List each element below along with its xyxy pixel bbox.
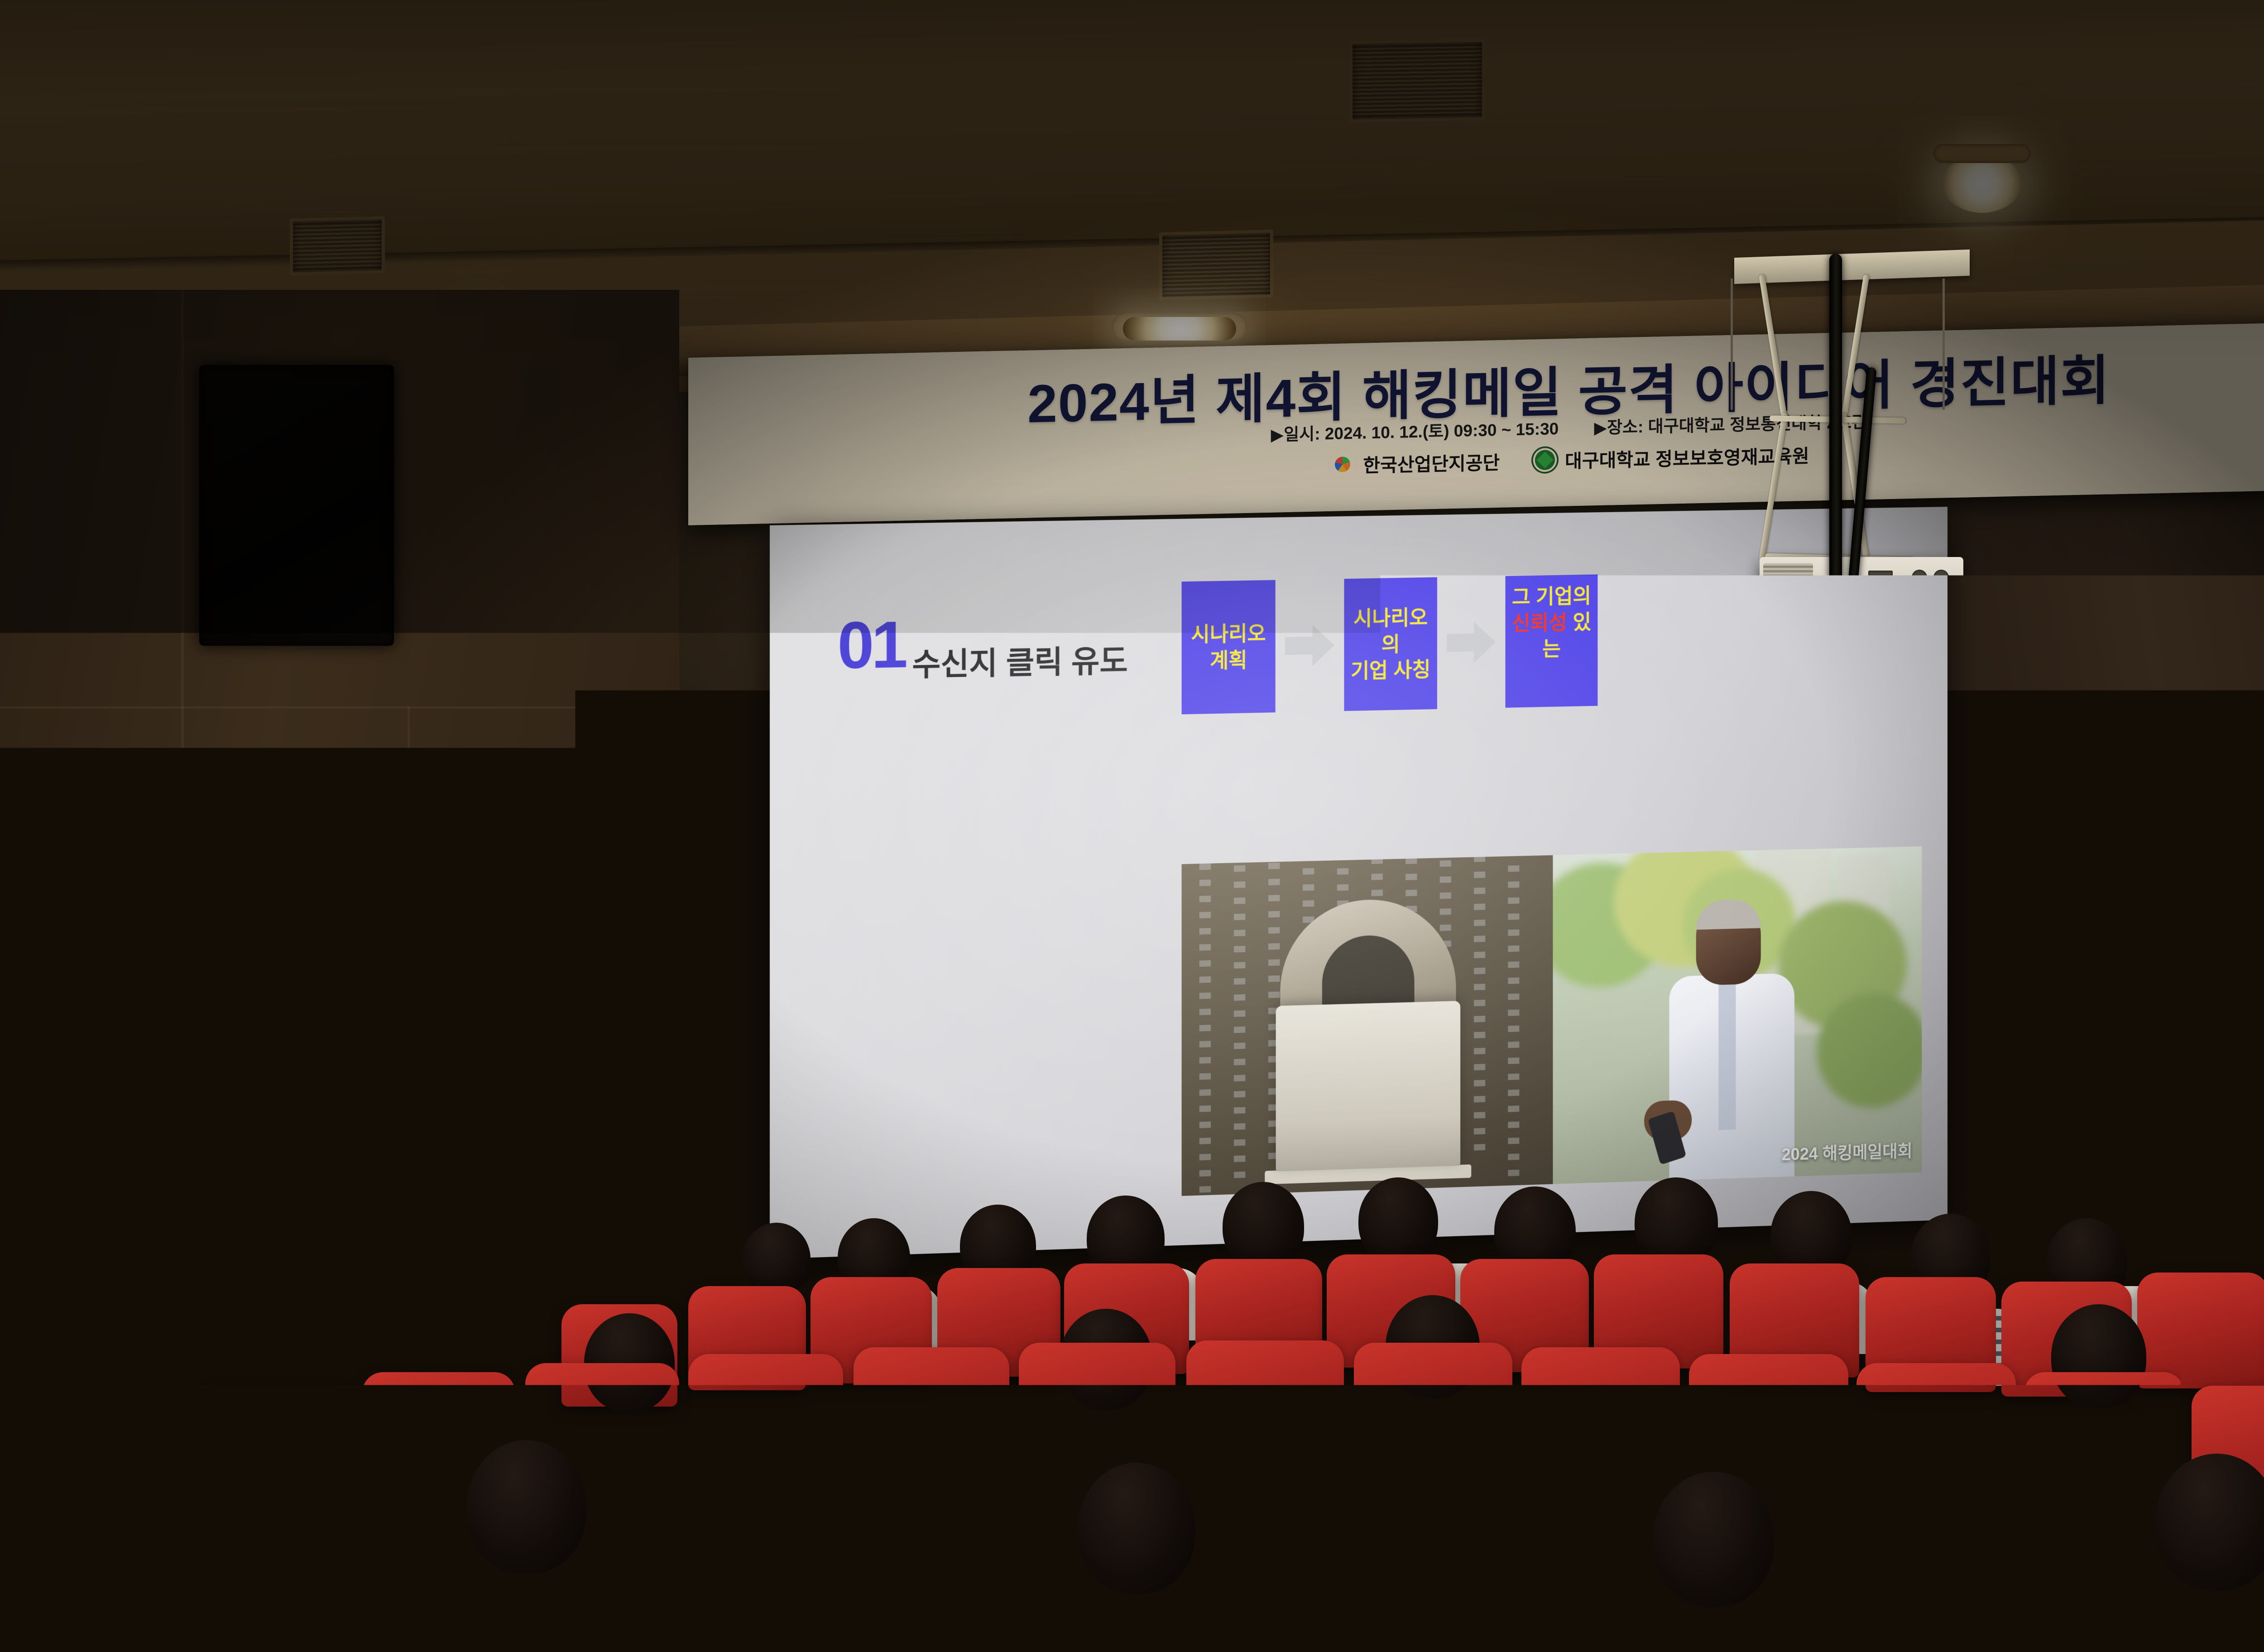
- flow-step-1-label: 시나리오 계획: [1185, 620, 1271, 674]
- slide-photo-row: 2024 해킹메일대회: [1182, 846, 1922, 1196]
- auditorium-seat: [1893, 1490, 2102, 1652]
- auditorium-seat: [2137, 1273, 2264, 1388]
- wall-panel-seam: [0, 706, 679, 709]
- ceiling-air-vent-1: [1349, 38, 1485, 122]
- auditorium-seat: [1019, 1343, 1175, 1486]
- laptop-screen: [1276, 1001, 1460, 1172]
- auditorium-seat: [394, 1494, 593, 1652]
- auditorium-seat: [1521, 1347, 1680, 1492]
- photo-caption: 2024 해킹메일대회: [1782, 1137, 1913, 1166]
- auditorium-seat: [815, 1472, 1019, 1652]
- auditorium-seat: [1243, 1467, 1449, 1648]
- audience-head: [1358, 1177, 1438, 1264]
- audience-head: [1223, 1182, 1304, 1270]
- auditorium-seat: [1186, 1340, 1344, 1484]
- presenter-left-skirt: [328, 1157, 432, 1311]
- auditorium-seat: [2110, 1499, 2264, 1652]
- organizer-1: 한국산업단지공단: [1329, 447, 1500, 479]
- ceiling-air-vent-3: [290, 216, 385, 275]
- auditorium-seat: [0, 1494, 177, 1652]
- presenter-left-bun: [326, 908, 365, 945]
- projector-mount-plate: [1734, 250, 1970, 284]
- right-arrow-icon: [1447, 622, 1496, 664]
- flow-step-2-label: 시나리오의 기업 사칭: [1348, 604, 1434, 684]
- daegu-university-emblem-icon: [195, 1087, 250, 1142]
- ceiling-projector-mount: [1716, 254, 1992, 661]
- auditorium-seat: [1856, 1363, 2016, 1509]
- daegu-university-emblem-icon: [1531, 446, 1559, 474]
- presenter-right-pants: [467, 1163, 565, 1312]
- auditorium-scene: 2024년 제4회 해킹메일 공격 아이디어 경진대회 ▶일시: 2024. 1…: [0, 0, 2264, 1652]
- flow-step-3-highlight: 신뢰성: [1512, 610, 1567, 634]
- auditorium-seat: [854, 1347, 1009, 1489]
- slide-number: 01: [838, 612, 905, 679]
- projector-power-cable: [1829, 254, 1842, 652]
- kicox-pinwheel-icon: [1329, 450, 1357, 479]
- flow-step-2-line1: 시나리오의: [1353, 605, 1428, 656]
- organizer-1-label: 한국산업단지공단: [1363, 447, 1500, 478]
- auditorium-seat: [688, 1354, 843, 1495]
- auditorium-seat: [1354, 1343, 1512, 1488]
- auditorium-seat: [1458, 1472, 1665, 1652]
- audience-head: [743, 1223, 811, 1295]
- flow-step-3-before: 그 기업의: [1512, 584, 1591, 608]
- right-arrow-icon: [1285, 624, 1334, 667]
- photo-businessman: 2024 해킹메일대회: [1553, 846, 1922, 1184]
- ceiling-downlight-ring-2: [1933, 144, 2031, 163]
- slide-flow-diagram: 시나리오 계획 시나리오의 기업 사칭 그 기업의 신뢰성 있는: [1182, 574, 1598, 714]
- flow-step-3: 그 기업의 신뢰성 있는: [1506, 574, 1598, 707]
- auditorium-seat: [186, 1508, 383, 1652]
- photo-hacker: [1182, 855, 1553, 1196]
- businessman-tie: [1718, 984, 1736, 1130]
- ceiling-air-vent-2: [1159, 230, 1273, 300]
- auditorium-seat: [1028, 1467, 1234, 1648]
- ceiling-downlight-1: [1123, 317, 1236, 341]
- flow-step-2: 시나리오의 기업 사칭: [1344, 577, 1437, 711]
- flow-step-1: 시나리오 계획: [1182, 580, 1276, 715]
- auditorium-seat: [1675, 1481, 1884, 1652]
- presenter-right: [441, 915, 645, 1313]
- projector-vent-grill: [1763, 563, 1813, 631]
- flow-step-2-line2: 기업 사칭: [1351, 658, 1430, 682]
- wall-speaker: [199, 365, 394, 646]
- slide-heading: 수신지 클릭 유도: [912, 635, 1127, 684]
- auditorium-seat: [602, 1481, 804, 1652]
- projector: [1760, 557, 1963, 648]
- flow-step-3-label: 그 기업의 신뢰성 있는: [1509, 582, 1594, 663]
